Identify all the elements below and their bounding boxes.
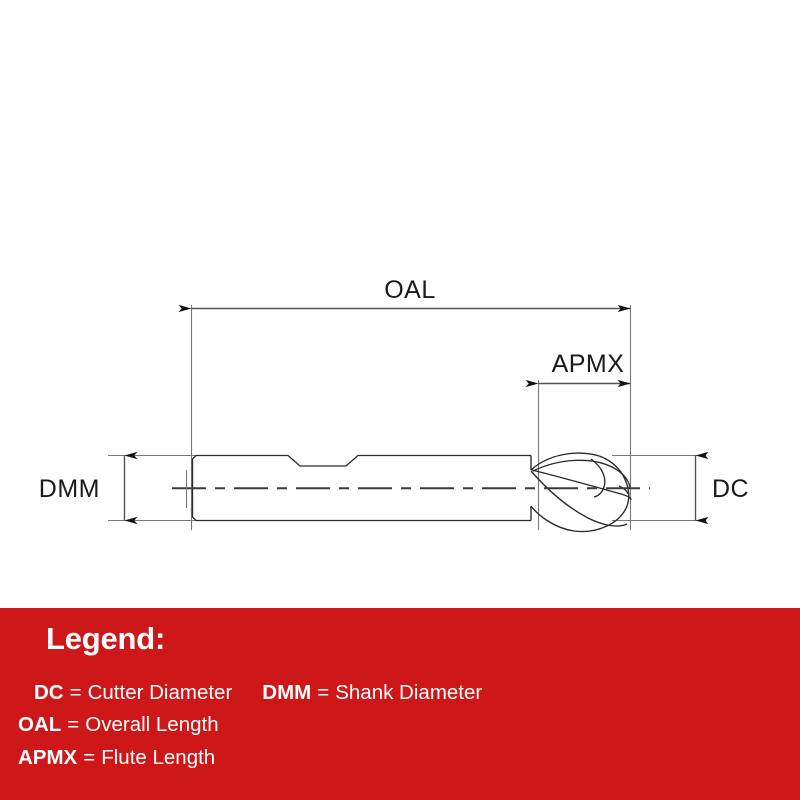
oal-label: OAL — [384, 276, 436, 304]
legend-title: Legend: — [46, 620, 800, 659]
legend-equals: = — [67, 709, 79, 741]
dimension-apmx: APMX — [539, 350, 631, 384]
dimension-oal: OAL — [192, 276, 631, 309]
legend-band: Legend: DC = Cutter Diameter DMM = Shank… — [0, 608, 800, 800]
legend-equals: = — [317, 677, 329, 709]
end-mill-drawing-svg: OAL APMX DMM DC — [0, 0, 800, 608]
legend-desc-dc: Cutter Diameter — [88, 677, 233, 709]
extension-lines — [108, 305, 706, 530]
legend-equals: = — [70, 677, 82, 709]
drawing-area: OAL APMX DMM DC — [0, 0, 800, 608]
legend-code-dmm: DMM — [262, 677, 311, 709]
legend-entry-oal: OAL = Overall Length — [18, 709, 219, 741]
legend-row: DC = Cutter Diameter DMM = Shank Diamete… — [18, 677, 800, 709]
legend-entry-apmx: APMX = Flute Length — [18, 742, 215, 774]
legend-entry-dc: DC = Cutter Diameter — [34, 677, 232, 709]
legend-rows: DC = Cutter Diameter DMM = Shank Diamete… — [0, 677, 800, 774]
legend-code-apmx: APMX — [18, 742, 77, 774]
legend-desc-oal: Overall Length — [85, 709, 218, 741]
dimension-dc: DC — [696, 456, 750, 521]
dimension-dmm: DMM — [39, 456, 125, 521]
apmx-label: APMX — [552, 350, 625, 378]
dmm-label: DMM — [39, 475, 100, 503]
legend-equals: = — [83, 742, 95, 774]
legend-row: OAL = Overall Length — [18, 709, 800, 741]
legend-code-dc: DC — [34, 677, 64, 709]
cutting-head-geometry — [531, 453, 631, 531]
legend-row: APMX = Flute Length — [18, 742, 800, 774]
legend-code-oal: OAL — [18, 709, 61, 741]
legend-entry-dmm: DMM = Shank Diameter — [262, 677, 482, 709]
legend-desc-apmx: Flute Length — [101, 742, 215, 774]
dc-label: DC — [712, 475, 749, 503]
legend-desc-dmm: Shank Diameter — [335, 677, 482, 709]
technical-drawing-page: OAL APMX DMM DC — [0, 0, 800, 800]
